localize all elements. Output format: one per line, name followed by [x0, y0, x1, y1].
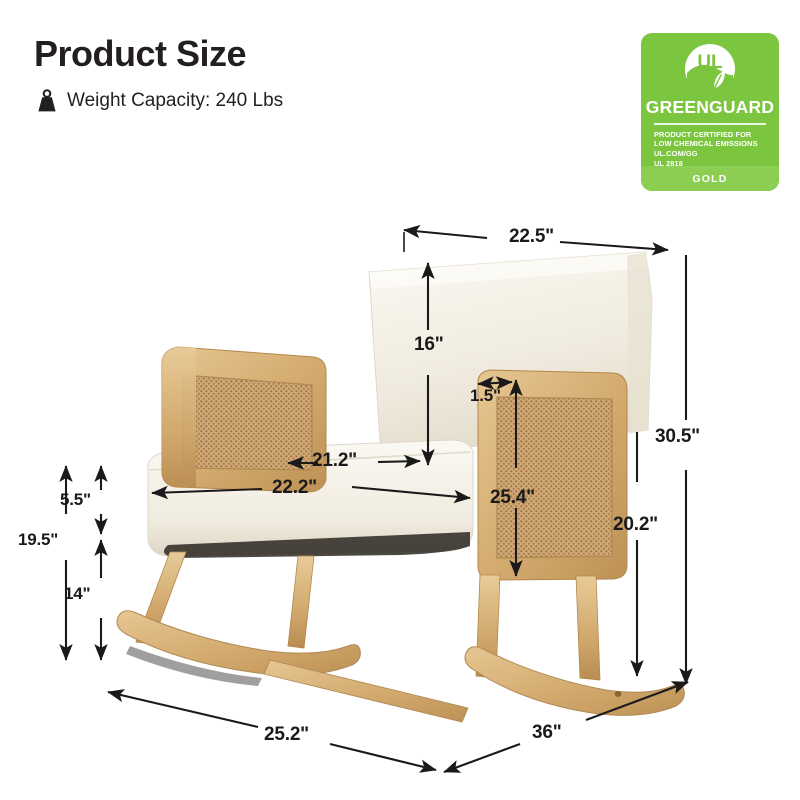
dim-label-overall-width: 22.5": [509, 226, 554, 248]
dim-label-seat-width: 22.2": [272, 477, 317, 499]
dim-label-seat-inner-width: 21.2": [312, 450, 357, 472]
dim-line-base-depth-lower: [330, 744, 436, 770]
dim-line-overall-width-right: [560, 242, 668, 250]
dim-label-side-panel-height: 25.4": [490, 487, 535, 509]
dim-line-rocker-length-lower: [444, 744, 520, 772]
chair-left-arm: [162, 347, 326, 492]
dim-line-seat-inner-right: [378, 461, 420, 462]
dim-label-total-seat-height: 19.5": [18, 530, 58, 550]
rocking-chair-illustration: [117, 252, 684, 722]
dim-label-arm-height: 20.2": [613, 514, 658, 536]
dim-label-backrest-height: 16": [414, 334, 444, 356]
dim-label-rocker-length: 36": [532, 722, 562, 744]
dim-label-seat-height: 14": [64, 584, 90, 604]
dim-label-seat-back-height: 5.5": [60, 490, 91, 510]
dim-label-arm-thickness: 1.5": [470, 386, 501, 406]
dim-label-base-depth: 25.2": [264, 724, 309, 746]
dim-label-overall-height: 30.5": [655, 426, 700, 448]
dim-line-overall-width-left: [404, 230, 487, 238]
dim-line-base-depth-upper: [108, 692, 258, 727]
product-dimension-diagram: [0, 0, 800, 800]
